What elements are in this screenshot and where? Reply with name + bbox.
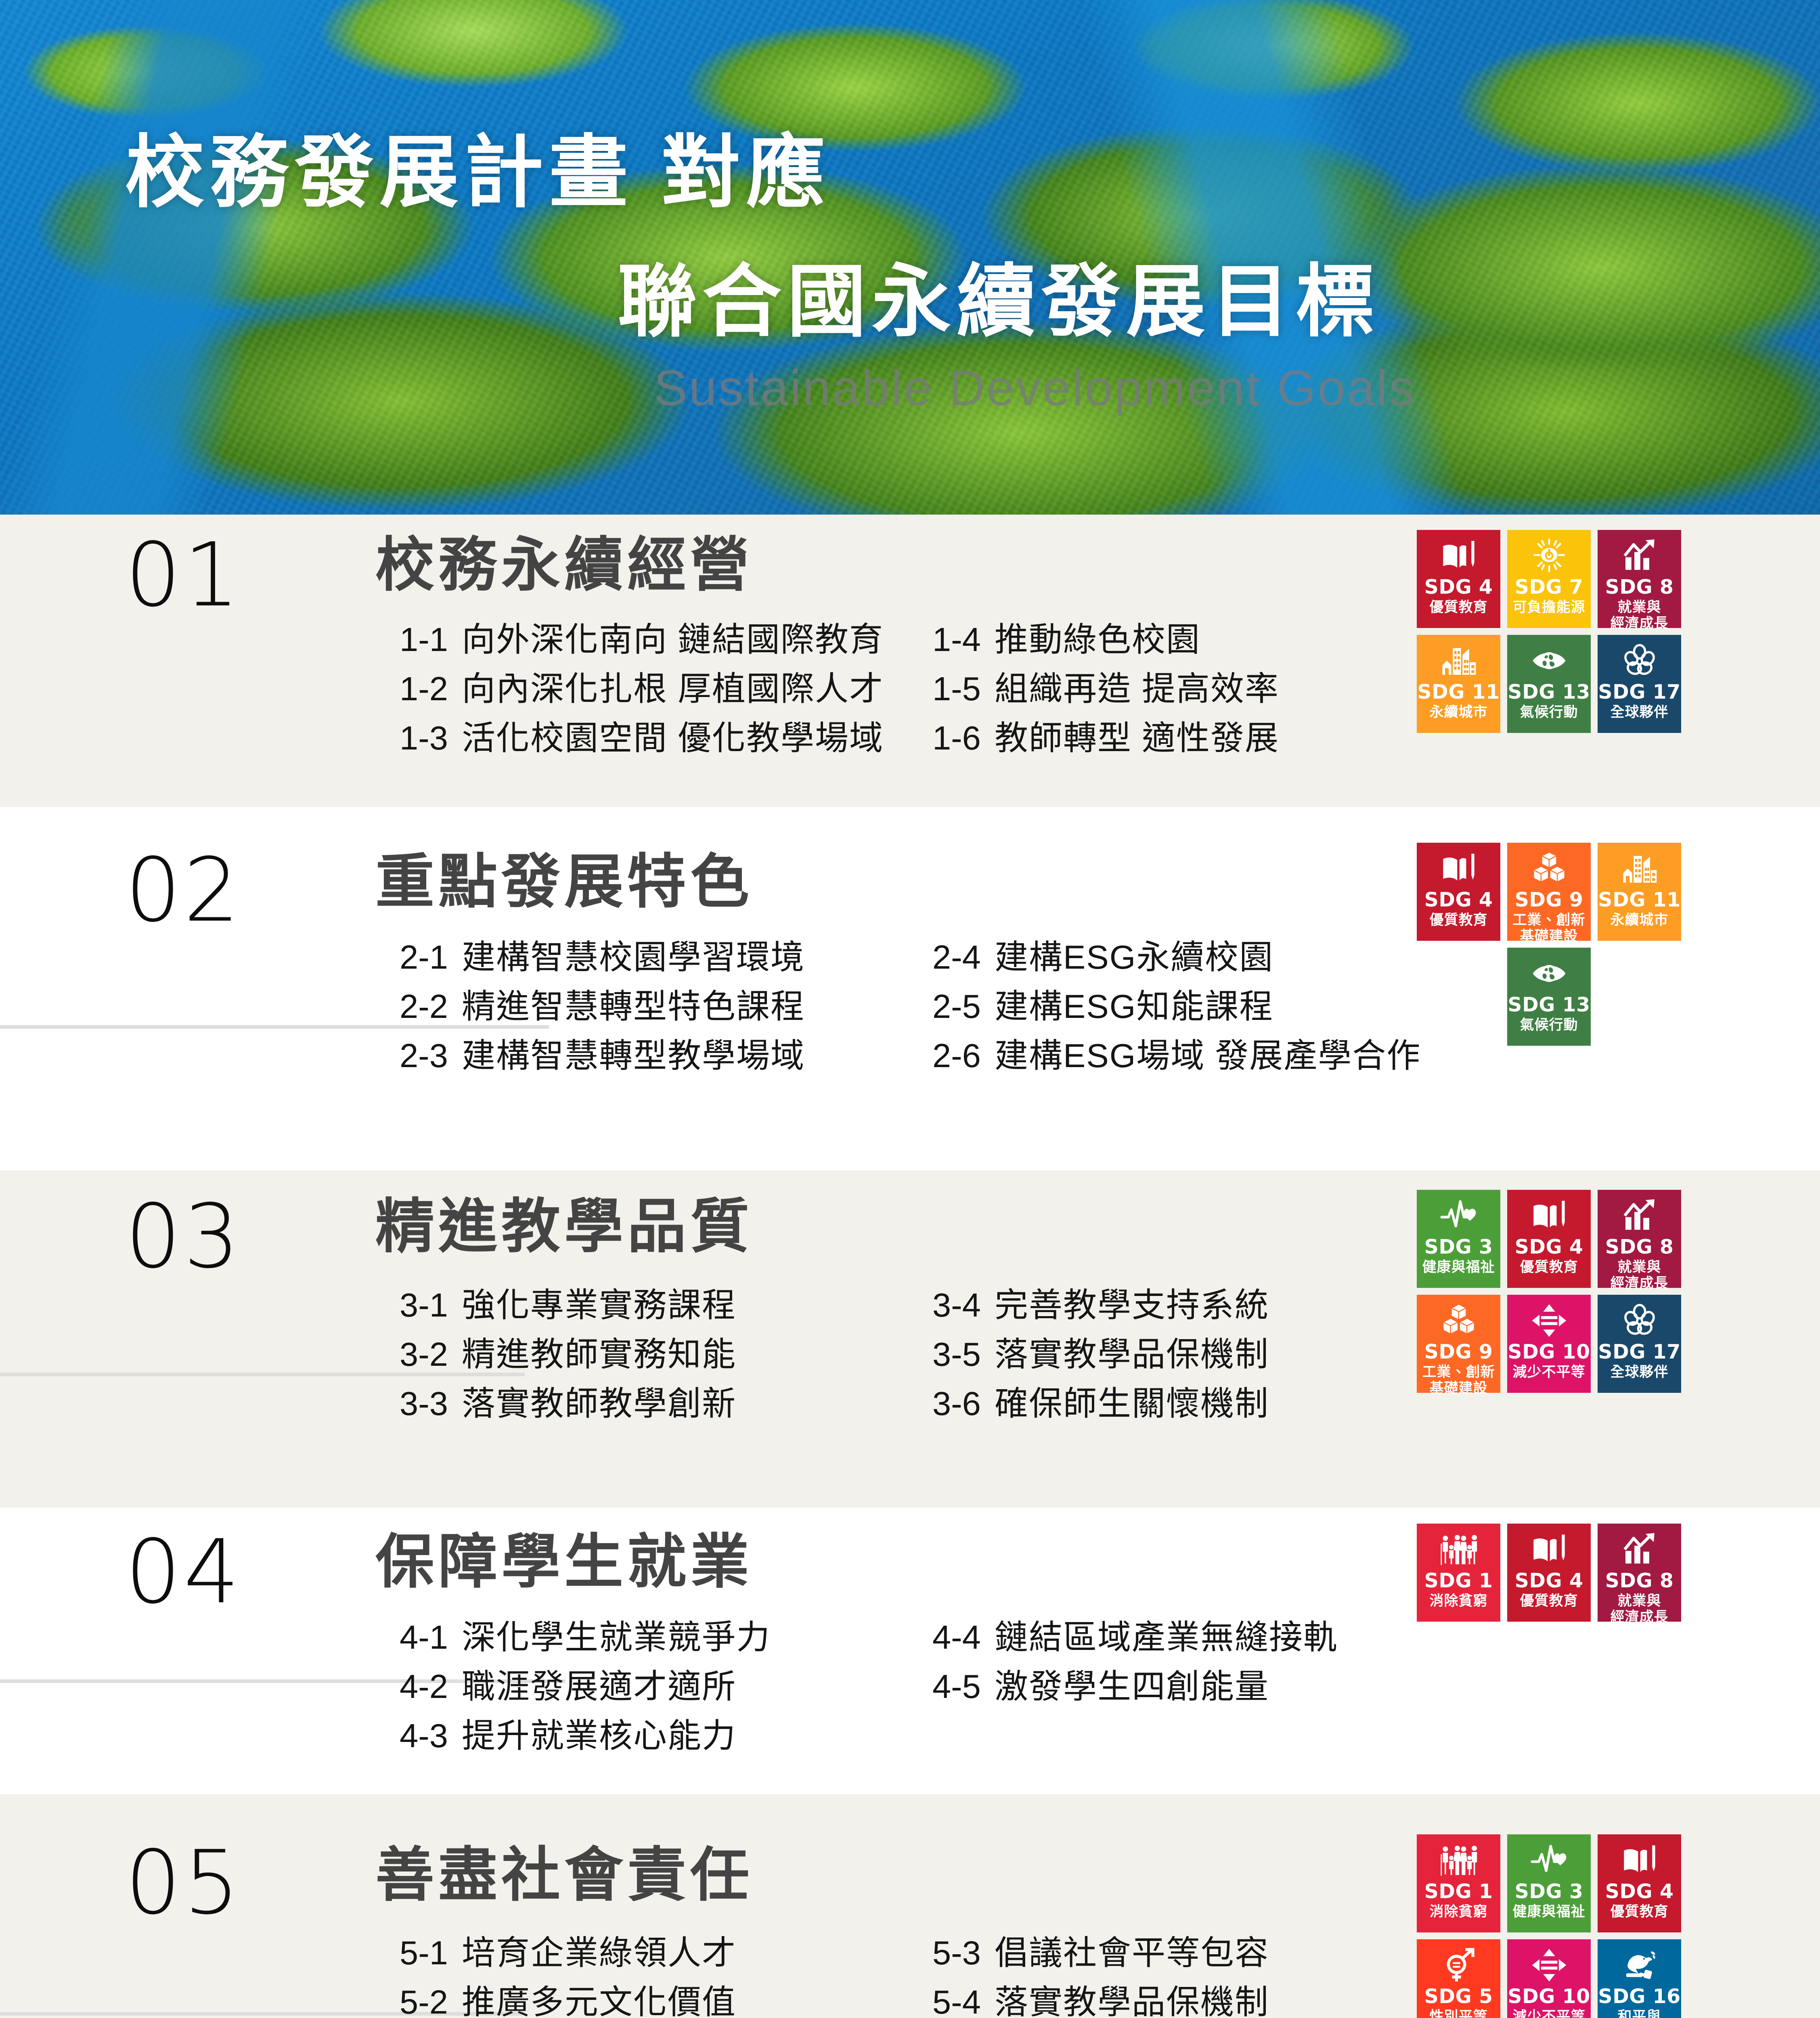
sdg-badge-number: SDG 8 — [1605, 1237, 1674, 1257]
sdg-badge-label: 全球夥伴 — [1610, 704, 1668, 720]
plan-item-code: 5-2 — [400, 1983, 448, 2018]
items-column-left: 2-1建構智慧校園學習環境2-2精進智慧轉型特色課程2-3建構智慧轉型教學場域 — [400, 940, 805, 1072]
plan-item-text: 精進教師實務知能 — [462, 1336, 736, 1373]
sdg-badge-grid: SDG 1消除貧窮SDG 4優質教育SDG 8就業與 經濟成長 — [1417, 1524, 1681, 1622]
sdg-badge-number: SDG 17 — [1598, 682, 1680, 702]
plan-item: 1-6教師轉型 適性發展 — [932, 721, 1279, 755]
sdg-badge-row: SDG 1消除貧窮SDG 4優質教育SDG 8就業與 經濟成長 — [1417, 1524, 1681, 1622]
cubes-industry-icon — [1439, 1302, 1478, 1339]
sdg-badge-label: 和平與 正義制度 — [1610, 2009, 1668, 2018]
plan-item-text: 推動綠色校園 — [995, 621, 1200, 658]
sdg-badge-number: SDG 10 — [1508, 1986, 1590, 2007]
items-column-right: 2-4建構ESG永續校園2-5建構ESG知能課程2-6建構ESG場域 發展產學合… — [932, 940, 1421, 1072]
sdg-badge-label: 消除貧窮 — [1429, 1593, 1487, 1609]
partnership-rings-icon — [1620, 642, 1659, 679]
section-inner: 03精進教學品質3-1強化專業實務課程3-2精進教師實務知能3-3落實教師教學創… — [0, 1170, 1820, 1507]
book-pencil-icon — [1530, 1197, 1569, 1234]
sdg-badge-number: SDG 11 — [1417, 682, 1500, 702]
plan-item-code: 4-1 — [400, 1618, 448, 1656]
plan-item: 5-3倡議社會平等包容 — [932, 1936, 1269, 1970]
sdg-badge[interactable]: SDG 3健康與福祉 — [1507, 1834, 1591, 1932]
sdg-badge-label: 就業與 經濟成長 — [1610, 599, 1668, 631]
plan-item-text: 向內深化扎根 厚植國際人才 — [462, 670, 884, 708]
plan-item: 2-2精進智慧轉型特色課程 — [400, 990, 805, 1023]
section-inner: 01校務永續經營1-1向外深化南向 鏈結國際教育1-2向內深化扎根 厚植國際人才… — [0, 515, 1820, 807]
sdg-badge-label: 優質教育 — [1610, 1904, 1668, 1920]
plan-item: 4-4鏈結區域產業無縫接軌 — [932, 1620, 1338, 1654]
plan-item: 1-2向內深化扎根 厚植國際人才 — [400, 672, 884, 705]
plan-item-code: 4-3 — [400, 1717, 448, 1754]
sdg-badge-number: SDG 3 — [1515, 1881, 1583, 1902]
plan-item-code: 3-6 — [932, 1385, 981, 1422]
plan-item: 1-3活化校園空間 優化教學場域 — [400, 721, 884, 755]
book-pencil-icon — [1530, 1531, 1569, 1568]
section-title: 善盡社會責任 — [375, 1846, 753, 1905]
plan-item: 3-4完善教學支持系統 — [932, 1288, 1269, 1322]
sdg-badge[interactable]: SDG 4優質教育 — [1507, 1524, 1591, 1622]
plan-item-text: 精進智慧轉型特色課程 — [462, 988, 805, 1025]
sdg-badge-row: SDG 5性別平等SDG 10減少不平等SDG 16和平與 正義制度 — [1417, 1939, 1681, 2018]
section-number: 05 — [125, 1839, 242, 1927]
section-05: 05善盡社會責任5-1培育企業綠領人才5-2推廣多元文化價值5-3倡議社會平等包… — [0, 1794, 1820, 2018]
sdg-badge-row: SDG 3健康與福祉SDG 4優質教育SDG 8就業與 經濟成長 — [1417, 1190, 1681, 1288]
plan-item: 4-1深化學生就業競爭力 — [400, 1620, 771, 1654]
sdg-badge[interactable]: SDG 5性別平等 — [1417, 1939, 1500, 2018]
plan-item: 2-3建構智慧轉型教學場域 — [400, 1039, 805, 1072]
items-column-right: 3-4完善教學支持系統3-5落實教學品保機制3-6確保師生關懷機制 — [932, 1288, 1269, 1420]
section-02: 02重點發展特色2-1建構智慧校園學習環境2-2精進智慧轉型特色課程2-3建構智… — [0, 807, 1820, 1170]
sdg-badge[interactable]: SDG 11永續城市 — [1417, 635, 1500, 733]
plan-item-text: 倡議社會平等包容 — [995, 1934, 1269, 1972]
section-number: 02 — [125, 847, 242, 935]
plan-item-code: 2-3 — [400, 1037, 448, 1074]
eye-earth-icon — [1530, 955, 1569, 992]
plan-item-text: 推廣多元文化價值 — [462, 1983, 736, 2018]
plan-item-code: 2-2 — [400, 988, 448, 1025]
plan-item-text: 強化專業實務課程 — [462, 1286, 736, 1324]
plan-item-text: 深化學生就業競爭力 — [462, 1618, 771, 1656]
hero-title-group: 校務發展計畫 對應 聯合國永續發展目標 Sustainable Developm… — [0, 0, 1820, 515]
plan-item-text: 確保師生關懷機制 — [995, 1385, 1269, 1422]
sections-list: 01校務永續經營1-1向外深化南向 鏈結國際教育1-2向內深化扎根 厚植國際人才… — [0, 515, 1820, 2018]
plan-item-text: 建構智慧轉型教學場域 — [462, 1037, 805, 1074]
plan-item-code: 4-5 — [932, 1668, 981, 1705]
sdg-badge-number: SDG 4 — [1515, 1237, 1583, 1257]
sdg-badge[interactable]: SDG 1消除貧窮 — [1417, 1834, 1500, 1932]
sdg-badge[interactable]: SDG 1消除貧窮 — [1417, 1524, 1500, 1622]
plan-item-text: 建構ESG知能課程 — [995, 988, 1273, 1025]
sdg-badge-label: 減少不平等 — [1512, 1364, 1585, 1380]
badge-spacer — [1417, 948, 1500, 1046]
plan-item-code: 2-4 — [932, 938, 981, 976]
plan-item-text: 鏈結區域產業無縫接軌 — [995, 1618, 1338, 1656]
plan-item-code: 5-1 — [400, 1934, 448, 1972]
plan-item: 2-4建構ESG永續校園 — [932, 940, 1421, 974]
plan-item-text: 激發學生四創能量 — [995, 1668, 1269, 1705]
sdg-badge[interactable]: SDG 10減少不平等 — [1507, 1939, 1591, 2018]
sdg-badge-label: 減少不平等 — [1512, 2009, 1585, 2018]
sdg-badge-number: SDG 9 — [1424, 1342, 1493, 1362]
poster-title-line1: 校務發展計畫 對應 — [125, 133, 831, 212]
sdg-badge-label: 消除貧窮 — [1429, 1904, 1487, 1920]
plan-item-code: 2-5 — [932, 988, 981, 1025]
sdg-badge-label: 就業與 經濟成長 — [1610, 1593, 1668, 1624]
sdg-badge[interactable]: SDG 9工業、創新 基礎建設 — [1417, 1295, 1500, 1393]
sdg-badge[interactable]: SDG 13氣候行動 — [1507, 948, 1591, 1046]
plan-item-code: 4-4 — [932, 1618, 981, 1656]
plan-item: 4-3提升就業核心能力 — [400, 1719, 771, 1752]
plan-item: 1-4推動綠色校園 — [932, 623, 1279, 656]
plan-item: 1-1向外深化南向 鏈結國際教育 — [400, 623, 884, 656]
sdg-badge-label: 健康與福祉 — [1512, 1904, 1585, 1920]
sdg-badge-label: 優質教育 — [1520, 1259, 1578, 1275]
sdg-badge-number: SDG 4 — [1424, 890, 1493, 910]
sdg-badge-label: 優質教育 — [1520, 1593, 1578, 1609]
section-inner: 04保障學生就業4-1深化學生就業競爭力4-2職涯發展適才適所4-3提升就業核心… — [0, 1507, 1820, 1794]
plan-item-text: 向外深化南向 鏈結國際教育 — [462, 621, 884, 658]
equality-arrows-icon — [1530, 1302, 1569, 1339]
sdg-badge-row: SDG 9工業、創新 基礎建設SDG 10減少不平等SDG 17全球夥伴 — [1417, 1295, 1681, 1393]
plan-item: 3-5落實教學品保機制 — [932, 1338, 1269, 1371]
city-buildings-icon — [1439, 642, 1478, 679]
sdg-badge-label: 氣候行動 — [1520, 704, 1578, 720]
sdg-badge-row: SDG 4優質教育SDG 7可負擔能源SDG 8就業與 經濟成長 — [1417, 530, 1681, 628]
plan-item: 5-1培育企業綠領人才 — [400, 1936, 736, 1970]
growth-chart-icon — [1620, 1531, 1659, 1568]
plan-item: 3-3落實教師教學創新 — [400, 1387, 736, 1420]
items-column-right: 1-4推動綠色校園1-5組織再造 提高效率1-6教師轉型 適性發展 — [932, 623, 1279, 755]
plan-item-code: 1-2 — [400, 670, 448, 708]
plan-item-text: 完善教學支持系統 — [995, 1286, 1269, 1324]
plan-item: 4-2職涯發展適才適所 — [400, 1670, 771, 1703]
section-number: 04 — [125, 1528, 242, 1616]
sdg-badge-number: SDG 17 — [1598, 1342, 1680, 1362]
plan-item-code: 3-1 — [400, 1286, 448, 1324]
sdg-badge-number: SDG 8 — [1605, 577, 1674, 597]
plan-item: 3-6確保師生關懷機制 — [932, 1387, 1269, 1420]
plan-item-text: 提升就業核心能力 — [462, 1717, 736, 1754]
sdg-badge[interactable]: SDG 16和平與 正義制度 — [1598, 1939, 1681, 2018]
sdg-badge-number: SDG 5 — [1424, 1986, 1493, 2007]
section-number: 03 — [125, 1193, 242, 1281]
dove-gavel-icon — [1620, 1947, 1659, 1984]
plan-item-code: 2-6 — [932, 1037, 981, 1074]
plan-item-text: 活化校園空間 優化教學場域 — [462, 719, 884, 757]
poster-title-line2: 聯合國永續發展目標 — [618, 262, 1380, 341]
sdg-badge-grid: SDG 4優質教育SDG 7可負擔能源SDG 8就業與 經濟成長SDG 11永續… — [1417, 530, 1681, 733]
plan-item-code: 1-3 — [400, 719, 448, 757]
sdg-badge-number: SDG 4 — [1605, 1881, 1674, 1902]
city-buildings-icon — [1620, 850, 1659, 887]
plan-item-code: 1-1 — [400, 621, 448, 658]
sdg-badge-number: SDG 9 — [1515, 890, 1583, 910]
sdg-badge[interactable]: SDG 17全球夥伴 — [1598, 1295, 1681, 1393]
sdg-badge-number: SDG 1 — [1424, 1570, 1493, 1591]
sdg-badge[interactable]: SDG 7可負擔能源 — [1507, 530, 1591, 628]
sun-power-icon — [1530, 537, 1569, 574]
plan-item-text: 教師轉型 適性發展 — [995, 719, 1279, 757]
sdg-badge-number: SDG 10 — [1508, 1342, 1590, 1362]
plan-item: 1-5組織再造 提高效率 — [932, 672, 1279, 705]
sdg-badge-number: SDG 7 — [1515, 577, 1583, 597]
section-title: 校務永續經營 — [375, 536, 753, 595]
plan-item-text: 落實教學品保機制 — [995, 1336, 1269, 1373]
sdg-badge-label: 全球夥伴 — [1610, 1364, 1668, 1380]
plan-item-text: 組織再造 提高效率 — [995, 670, 1279, 708]
sdg-badge[interactable]: SDG 8就業與 經濟成長 — [1598, 530, 1681, 628]
plan-item-text: 建構ESG永續校園 — [995, 938, 1273, 976]
items-column-left: 3-1強化專業實務課程3-2精進教師實務知能3-3落實教師教學創新 — [400, 1288, 736, 1420]
items-column-left: 4-1深化學生就業競爭力4-2職涯發展適才適所4-3提升就業核心能力 — [400, 1620, 771, 1752]
plan-item-code: 3-3 — [400, 1385, 448, 1422]
plan-item: 2-6建構ESG場域 發展產學合作 — [932, 1039, 1421, 1072]
sdg-badge-number: SDG 16 — [1598, 1986, 1680, 2007]
sdg-badge[interactable]: SDG 8就業與 經濟成長 — [1598, 1190, 1681, 1288]
sdg-badge[interactable]: SDG 3健康與福祉 — [1417, 1190, 1500, 1288]
equality-arrows-icon — [1530, 1947, 1569, 1984]
section-03: 03精進教學品質3-1強化專業實務課程3-2精進教師實務知能3-3落實教師教學創… — [0, 1170, 1820, 1507]
sdg-badge[interactable]: SDG 4優質教育 — [1507, 1190, 1591, 1288]
plan-item: 5-2推廣多元文化價值 — [400, 1985, 736, 2018]
sdg-badge-label: 永續城市 — [1610, 912, 1668, 928]
plan-item-text: 建構智慧校園學習環境 — [462, 938, 805, 976]
sdg-badge-label: 健康與福祉 — [1422, 1259, 1495, 1275]
sdg-badge[interactable]: SDG 11永續城市 — [1598, 843, 1681, 941]
plan-item-code: 5-3 — [932, 1934, 981, 1972]
plan-item: 4-5激發學生四創能量 — [932, 1670, 1338, 1703]
section-number: 01 — [125, 532, 242, 620]
plan-item-code: 5-4 — [932, 1983, 981, 2018]
eye-earth-icon — [1530, 642, 1569, 679]
sdg-badge[interactable]: SDG 13氣候行動 — [1507, 635, 1591, 733]
plan-item-code: 4-2 — [400, 1668, 448, 1705]
sdg-badge-label: 就業與 經濟成長 — [1610, 1259, 1668, 1291]
sdg-badge-number: SDG 11 — [1598, 890, 1680, 910]
sdg-badge[interactable]: SDG 8就業與 經濟成長 — [1598, 1524, 1681, 1622]
plan-item-code: 3-5 — [932, 1336, 981, 1373]
sdg-badge-grid: SDG 3健康與福祉SDG 4優質教育SDG 8就業與 經濟成長SDG 9工業、… — [1417, 1190, 1681, 1393]
heartbeat-icon — [1530, 1842, 1569, 1879]
poster-subtitle: Sustainable Development Goals — [654, 363, 1416, 413]
section-01: 01校務永續經營1-1向外深化南向 鏈結國際教育1-2向內深化扎根 厚植國際人才… — [0, 515, 1820, 807]
sdg-badge-row: SDG 4優質教育SDG 9工業、創新 基礎建設SDG 11永續城市 — [1417, 843, 1681, 941]
section-inner: 02重點發展特色2-1建構智慧校園學習環境2-2精進智慧轉型特色課程2-3建構智… — [0, 807, 1820, 1170]
plan-item-code: 1-4 — [932, 621, 981, 658]
sdg-badge-label: 優質教育 — [1429, 912, 1487, 928]
sdg-badge-number: SDG 4 — [1424, 577, 1493, 597]
sdg-badge-row: SDG 13氣候行動 — [1417, 948, 1681, 1046]
cubes-industry-icon — [1530, 850, 1569, 887]
section-04: 04保障學生就業4-1深化學生就業競爭力4-2職涯發展適才適所4-3提升就業核心… — [0, 1507, 1820, 1794]
sdg-badge-number: SDG 13 — [1508, 994, 1590, 1015]
sdg-badge[interactable]: SDG 4優質教育 — [1598, 1834, 1681, 1932]
plan-item-text: 落實教師教學創新 — [462, 1385, 736, 1422]
items-column-right: 4-4鏈結區域產業無縫接軌4-5激發學生四創能量 — [932, 1620, 1338, 1703]
items-column-right: 5-3倡議社會平等包容5-4落實教學品保機制 — [932, 1936, 1269, 2018]
plan-item-text: 培育企業綠領人才 — [462, 1934, 736, 1972]
badge-spacer — [1598, 948, 1681, 1046]
sdg-badge-row: SDG 1消除貧窮SDG 3健康與福祉SDG 4優質教育 — [1417, 1834, 1681, 1932]
section-title: 精進教學品質 — [375, 1197, 753, 1256]
sdg-badge-label: 可負擔能源 — [1512, 599, 1585, 615]
section-title: 保障學生就業 — [375, 1532, 753, 1591]
growth-chart-icon — [1620, 1197, 1659, 1234]
sdg-badge[interactable]: SDG 4優質教育 — [1417, 530, 1500, 628]
plan-item-code: 3-4 — [932, 1286, 981, 1324]
plan-item-code: 1-5 — [932, 670, 981, 708]
sdg-badge[interactable]: SDG 9工業、創新 基礎建設 — [1507, 843, 1591, 941]
plan-item: 2-5建構ESG知能課程 — [932, 990, 1421, 1023]
items-column-left: 1-1向外深化南向 鏈結國際教育1-2向內深化扎根 厚植國際人才1-3活化校園空… — [400, 623, 884, 755]
sdg-poster: 校務發展計畫 對應 聯合國永續發展目標 Sustainable Developm… — [0, 0, 1820, 2018]
sdg-badge-number: SDG 13 — [1508, 682, 1590, 702]
sdg-badge-number: SDG 4 — [1515, 1570, 1583, 1591]
plan-item-text: 建構ESG場域 發展產學合作 — [995, 1037, 1421, 1074]
gender-equality-icon — [1439, 1947, 1478, 1984]
plan-item: 3-1強化專業實務課程 — [400, 1288, 736, 1322]
family-people-icon — [1439, 1842, 1478, 1879]
sdg-badge-grid: SDG 4優質教育SDG 9工業、創新 基礎建設SDG 11永續城市SDG 13… — [1417, 843, 1681, 1046]
section-inner: 05善盡社會責任5-1培育企業綠領人才5-2推廣多元文化價值5-3倡議社會平等包… — [0, 1794, 1820, 2018]
plan-item: 2-1建構智慧校園學習環境 — [400, 940, 805, 974]
sdg-badge[interactable]: SDG 10減少不平等 — [1507, 1295, 1591, 1393]
plan-item-code: 2-1 — [400, 938, 448, 976]
family-people-icon — [1439, 1531, 1478, 1568]
section-title: 重點發展特色 — [375, 852, 753, 911]
book-pencil-icon — [1439, 850, 1478, 887]
sdg-badge-number: SDG 3 — [1424, 1237, 1493, 1257]
sdg-badge[interactable]: SDG 17全球夥伴 — [1598, 635, 1681, 733]
book-pencil-icon — [1439, 537, 1478, 574]
hero-banner: 校務發展計畫 對應 聯合國永續發展目標 Sustainable Developm… — [0, 0, 1820, 515]
sdg-badge-label: 永續城市 — [1429, 704, 1487, 720]
items-column-left: 5-1培育企業綠領人才5-2推廣多元文化價值 — [400, 1936, 736, 2018]
plan-item-code: 3-2 — [400, 1336, 448, 1373]
plan-item-code: 1-6 — [932, 719, 981, 757]
sdg-badge-label: 氣候行動 — [1520, 1017, 1578, 1033]
heartbeat-icon — [1439, 1197, 1478, 1234]
plan-item: 5-4落實教學品保機制 — [932, 1985, 1269, 2018]
sdg-badge-grid: SDG 1消除貧窮SDG 3健康與福祉SDG 4優質教育SDG 5性別平等SDG… — [1417, 1834, 1681, 2018]
plan-item: 3-2精進教師實務知能 — [400, 1338, 736, 1371]
plan-item-text: 職涯發展適才適所 — [462, 1668, 736, 1705]
growth-chart-icon — [1620, 537, 1659, 574]
sdg-badge[interactable]: SDG 4優質教育 — [1417, 843, 1500, 941]
sdg-badge-label: 工業、創新 基礎建設 — [1422, 1364, 1495, 1396]
sdg-badge-label: 優質教育 — [1429, 599, 1487, 615]
sdg-badge-number: SDG 1 — [1424, 1881, 1493, 1902]
plan-item-text: 落實教學品保機制 — [995, 1983, 1269, 2018]
partnership-rings-icon — [1620, 1302, 1659, 1339]
sdg-badge-number: SDG 8 — [1605, 1570, 1674, 1591]
book-pencil-icon — [1620, 1842, 1659, 1879]
sdg-badge-label: 性別平等 — [1429, 2009, 1487, 2018]
sdg-badge-label: 工業、創新 基礎建設 — [1512, 912, 1585, 944]
sdg-badge-row: SDG 11永續城市SDG 13氣候行動SDG 17全球夥伴 — [1417, 635, 1681, 733]
